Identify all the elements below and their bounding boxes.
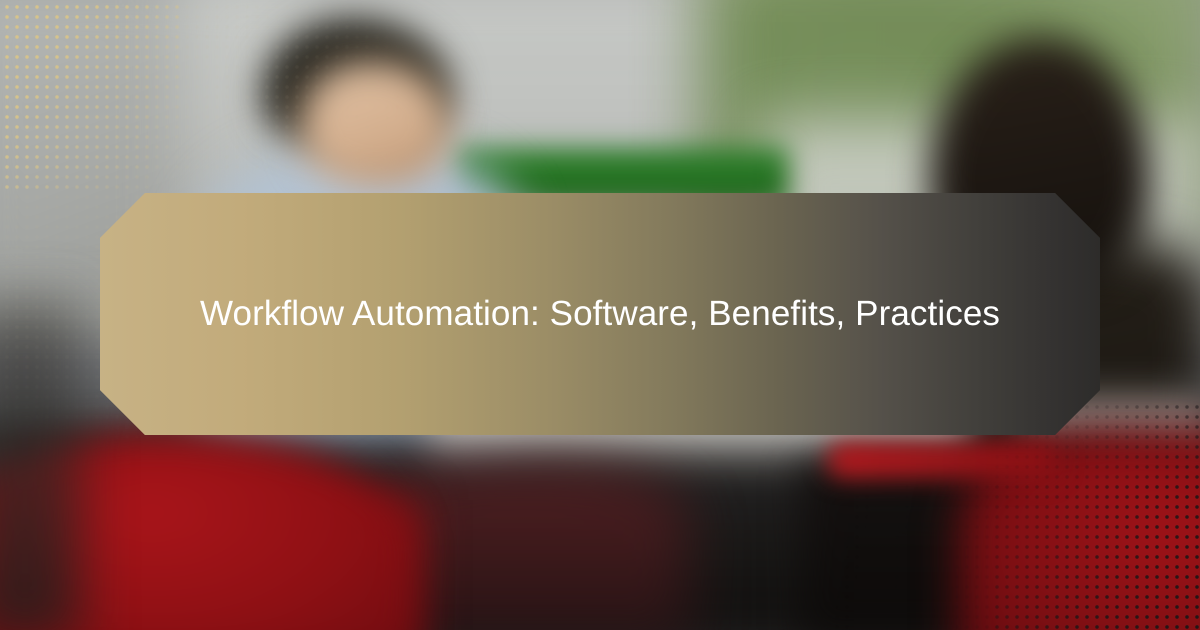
title-banner: Workflow Automation: Software, Benefits,… [100,193,1100,435]
page-title: Workflow Automation: Software, Benefits,… [180,286,1020,343]
person-man-face [300,62,450,187]
foreground-post-left [0,300,80,630]
hero-banner-page: Workflow Automation: Software, Benefits,… [0,0,1200,630]
chair-right-armrest [828,442,1058,478]
